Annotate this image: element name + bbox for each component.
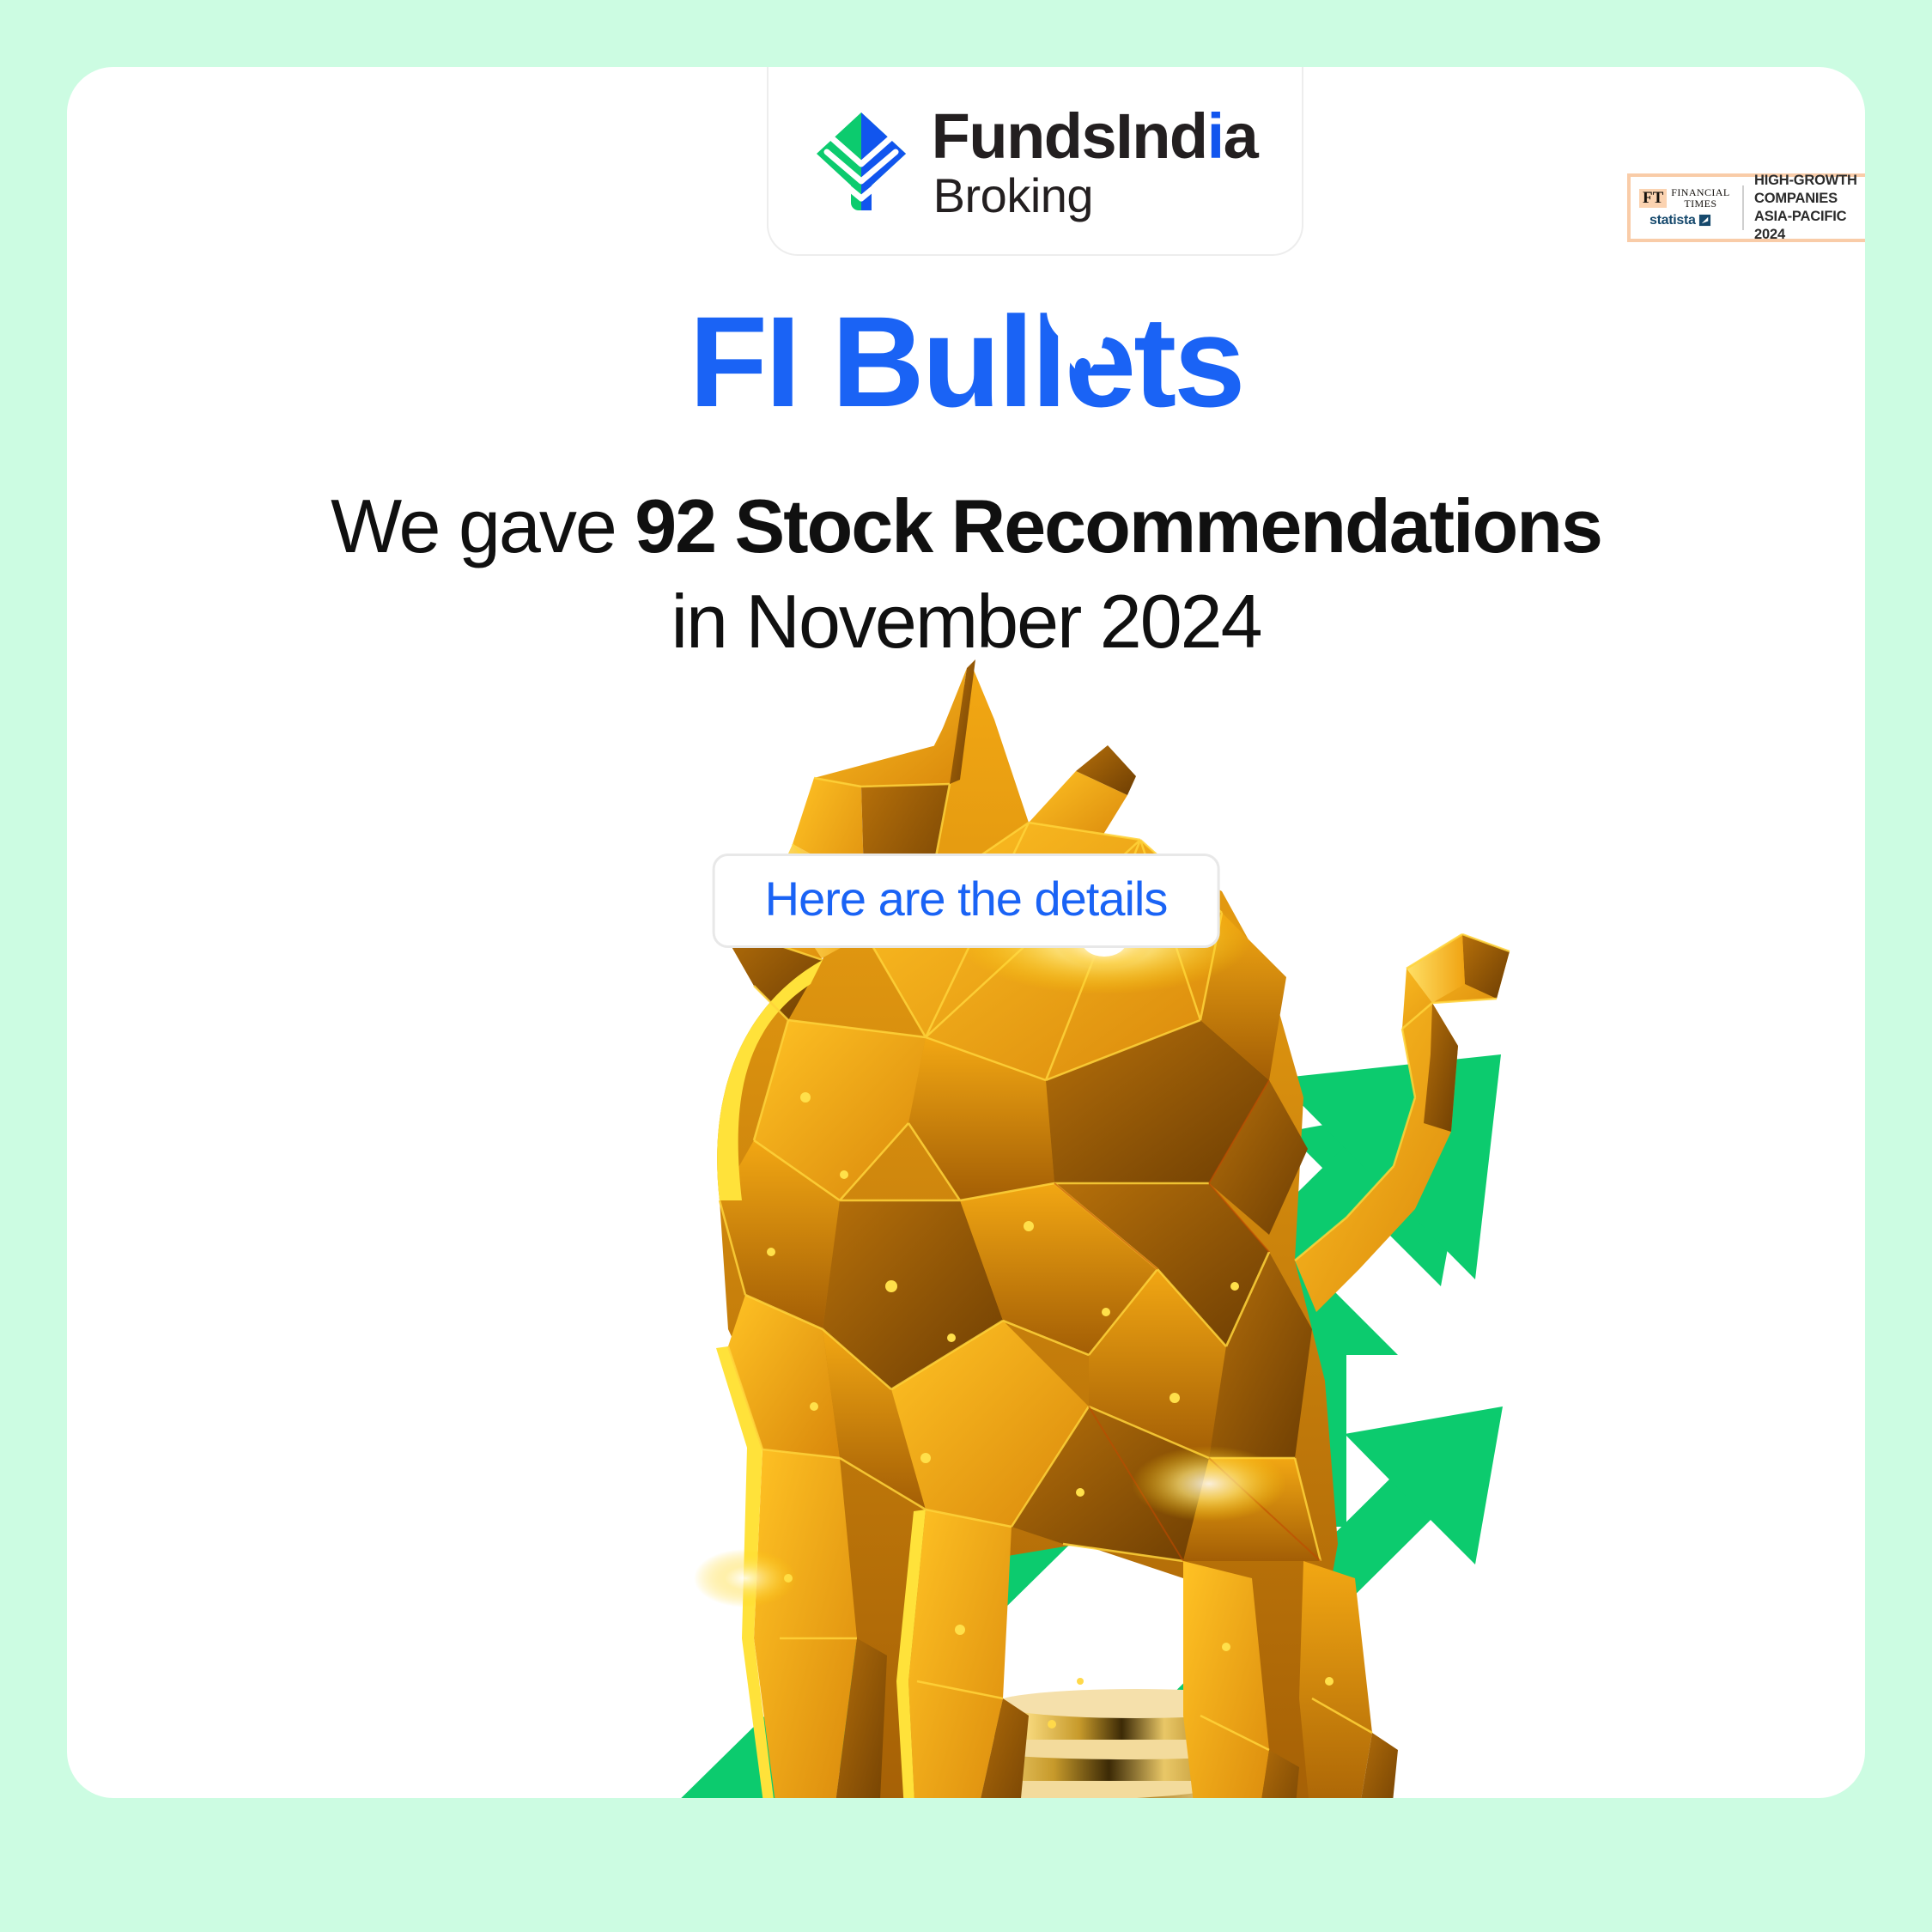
subhead-lead: We gave [331, 483, 635, 568]
award-title: HIGH-GROWTH COMPANIES ASIA-PACIFIC 2024 [1754, 172, 1865, 243]
main-card: FundsIndia Broking FT FINANCIAL TIMES st… [67, 67, 1865, 1798]
brand-logo-tab: FundsIndia Broking [767, 67, 1303, 256]
subhead-tail: in November 2024 [671, 579, 1261, 664]
details-button[interactable]: Here are the details [713, 854, 1220, 948]
title-bull-u: ullets [922, 297, 1243, 426]
title-part-3: llets [998, 289, 1242, 434]
brand-name: FundsIndia [932, 105, 1258, 168]
badge-divider [1742, 185, 1744, 230]
ft-monogram: FT [1639, 189, 1667, 208]
ft-statista-award-badge: FT FINANCIAL TIMES statista HIGH-GROWTH … [1627, 173, 1865, 242]
page-title: FI Bullets [67, 297, 1865, 426]
statista-arrow-icon [1698, 214, 1711, 227]
statista-wordmark: statista [1649, 213, 1696, 228]
brand-sub: Broking [933, 172, 1258, 220]
fundsindia-tree-icon [813, 111, 909, 214]
subheadline: We gave 92 Stock Recommendations in Nove… [296, 479, 1636, 670]
subhead-emphasis: 92 Stock Recommendations [635, 483, 1601, 568]
title-part-1: FI B [689, 289, 921, 434]
ft-publisher-name: FINANCIAL TIMES [1671, 187, 1729, 209]
